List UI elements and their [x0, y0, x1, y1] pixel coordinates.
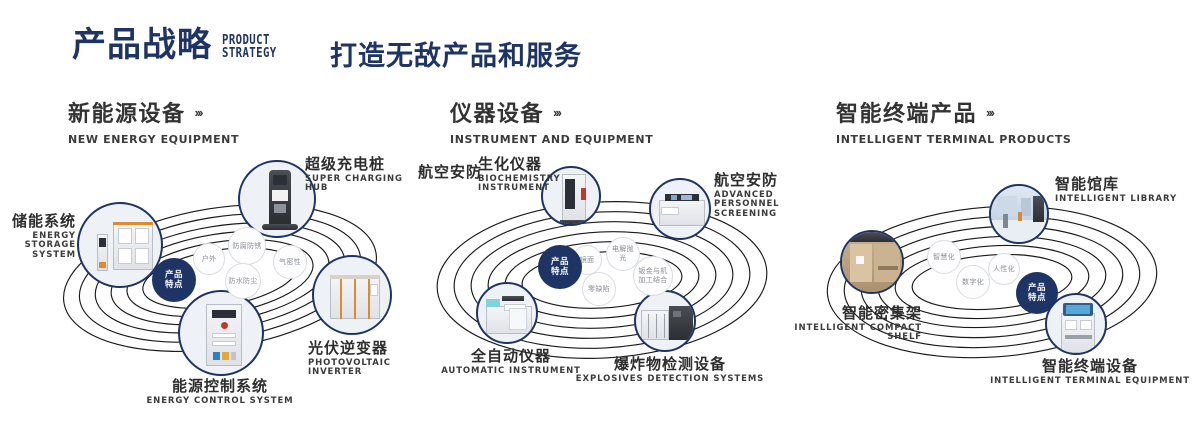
- label-en: ENERGY STORAGE SYSTEM: [0, 232, 76, 261]
- feature-bubble-airtight: 气密性: [273, 245, 307, 279]
- label-cn: 爆炸物检测设备: [570, 356, 770, 373]
- label-intelligent-library: 智能馆库 INTELLIGENT LIBRARY: [1055, 176, 1195, 204]
- cluster-new-energy: 储能系统 ENERGY STORAGE SYSTEM 超级充电桩 SUPER C…: [20, 150, 420, 422]
- node-energy-control-system[interactable]: [178, 290, 264, 376]
- core-line2: 特点: [551, 267, 569, 277]
- section-title-new-energy-cn: 新能源设备: [68, 96, 186, 128]
- label-cn: 储能系统: [0, 213, 76, 230]
- node-explosives-detection-systems[interactable]: [634, 290, 696, 352]
- section-title-intelligent-terminal-en: INTELLIGENT TERMINAL PRODUCTS: [836, 133, 1071, 146]
- core-bubble-product-features: 产品 特点: [538, 245, 582, 289]
- node-intelligent-compact-shelf[interactable]: [840, 230, 904, 294]
- label-biochemistry-instrument: 生化仪器 BIOCHEMISTRY INSTRUMENT: [478, 156, 588, 194]
- section-title-instrument-en: INSTRUMENT AND EQUIPMENT: [450, 133, 653, 146]
- feature-bubble-sheetmetal-machining: 钣金与机加工结合: [633, 256, 673, 296]
- section-title-instrument-cn: 仪器设备: [450, 96, 544, 128]
- chevron-right-icon: ›››: [553, 105, 560, 120]
- core-line1: 产品: [165, 270, 183, 280]
- node-intelligent-library[interactable]: [989, 184, 1049, 244]
- page-title: 产品战略: [72, 28, 212, 62]
- section-title-new-energy: 新能源设备 ››› NEW ENERGY EQUIPMENT: [68, 96, 239, 146]
- label-aviation-security-secondary: 航空安防: [364, 164, 482, 181]
- cluster-instrument: 生化仪器 BIOCHEMISTRY INSTRUMENT 航空安防 航空安防 A…: [404, 150, 804, 422]
- node-advanced-personnel-screening[interactable]: [649, 178, 711, 240]
- label-cn: 生化仪器: [478, 156, 588, 173]
- feature-bubble-outdoor: 户外: [193, 243, 225, 275]
- feature-bubble-zero-defect: 零缺陷: [582, 272, 616, 306]
- label-explosives-detection-systems: 爆炸物检测设备 EXPLOSIVES DETECTION SYSTEMS: [570, 356, 770, 384]
- section-title-instrument: 仪器设备 ››› INSTRUMENT AND EQUIPMENT: [450, 96, 653, 146]
- chevron-right-icon: ›››: [195, 105, 202, 120]
- label-en: INTELLIGENT LIBRARY: [1055, 195, 1195, 205]
- core-bubble-product-features: 产品 特点: [1016, 272, 1058, 314]
- label-intelligent-compact-shelf: 智能密集架 INTELLIGENT COMPACT SHELF: [786, 305, 922, 343]
- header-title-group: 产品战略 PRODUCT STRATEGY: [72, 28, 289, 62]
- core-line1: 产品: [551, 257, 569, 267]
- page-title-english: PRODUCT STRATEGY: [222, 34, 289, 63]
- core-line2: 特点: [1028, 293, 1046, 303]
- chevron-right-icon: ›››: [986, 105, 993, 120]
- product-strategy-infographic: 产品战略 PRODUCT STRATEGY 打造无敌产品和服务 新能源设备 ››…: [0, 0, 1200, 422]
- header: 产品战略 PRODUCT STRATEGY 打造无敌产品和服务: [0, 0, 1200, 88]
- label-en: EXPLOSIVES DETECTION SYSTEMS: [570, 375, 770, 385]
- page-slogan: 打造无敌产品和服务: [330, 34, 582, 73]
- node-energy-storage-system[interactable]: [77, 202, 163, 288]
- label-intelligent-terminal-equipment: 智能终端设备 INTELLIGENT TERMINAL EQUIPMENT: [980, 358, 1200, 386]
- section-title-intelligent-terminal: 智能终端产品 ››› INTELLIGENT TERMINAL PRODUCTS: [836, 96, 1071, 146]
- section-title-new-energy-en: NEW ENERGY EQUIPMENT: [68, 133, 239, 146]
- feature-bubble-intelligent: 智慧化: [927, 240, 961, 274]
- label-cn: 航空安防: [364, 164, 482, 181]
- page-title-en-line2: STRATEGY: [222, 47, 277, 60]
- label-cn: 智能密集架: [786, 305, 922, 322]
- core-bubble-product-features: 产品 特点: [152, 258, 196, 302]
- cluster-intelligent-terminal: 智能馆库 INTELLIGENT LIBRARY 智能密集架 INTELLIGE…: [800, 150, 1200, 422]
- label-en: BIOCHEMISTRY INSTRUMENT: [478, 175, 588, 194]
- label-en: INTELLIGENT TERMINAL EQUIPMENT: [980, 377, 1200, 387]
- feature-bubble-humanized: 人性化: [988, 253, 1020, 285]
- label-energy-storage-system: 储能系统 ENERGY STORAGE SYSTEM: [0, 213, 76, 260]
- node-photovoltaic-inverter[interactable]: [312, 255, 392, 335]
- section-title-intelligent-terminal-cn: 智能终端产品: [836, 96, 977, 128]
- label-en: INTELLIGENT COMPACT SHELF: [786, 324, 922, 343]
- feature-bubble-digital: 数字化: [956, 265, 990, 299]
- core-line1: 产品: [1028, 283, 1046, 293]
- node-automatic-instrument[interactable]: [476, 282, 538, 344]
- feature-bubble-anticorrosion: 防腐防锈: [228, 227, 266, 265]
- page-title-en-line1: PRODUCT: [222, 34, 277, 47]
- label-cn: 智能馆库: [1055, 176, 1195, 193]
- label-en: ENERGY CONTROL SYSTEM: [100, 397, 340, 407]
- core-line2: 特点: [165, 280, 183, 290]
- label-energy-control-system: 能源控制系统 ENERGY CONTROL SYSTEM: [100, 378, 340, 406]
- label-cn: 智能终端设备: [980, 358, 1200, 375]
- label-cn: 能源控制系统: [100, 378, 340, 395]
- feature-bubble-waterproof: 防水防尘: [225, 263, 261, 299]
